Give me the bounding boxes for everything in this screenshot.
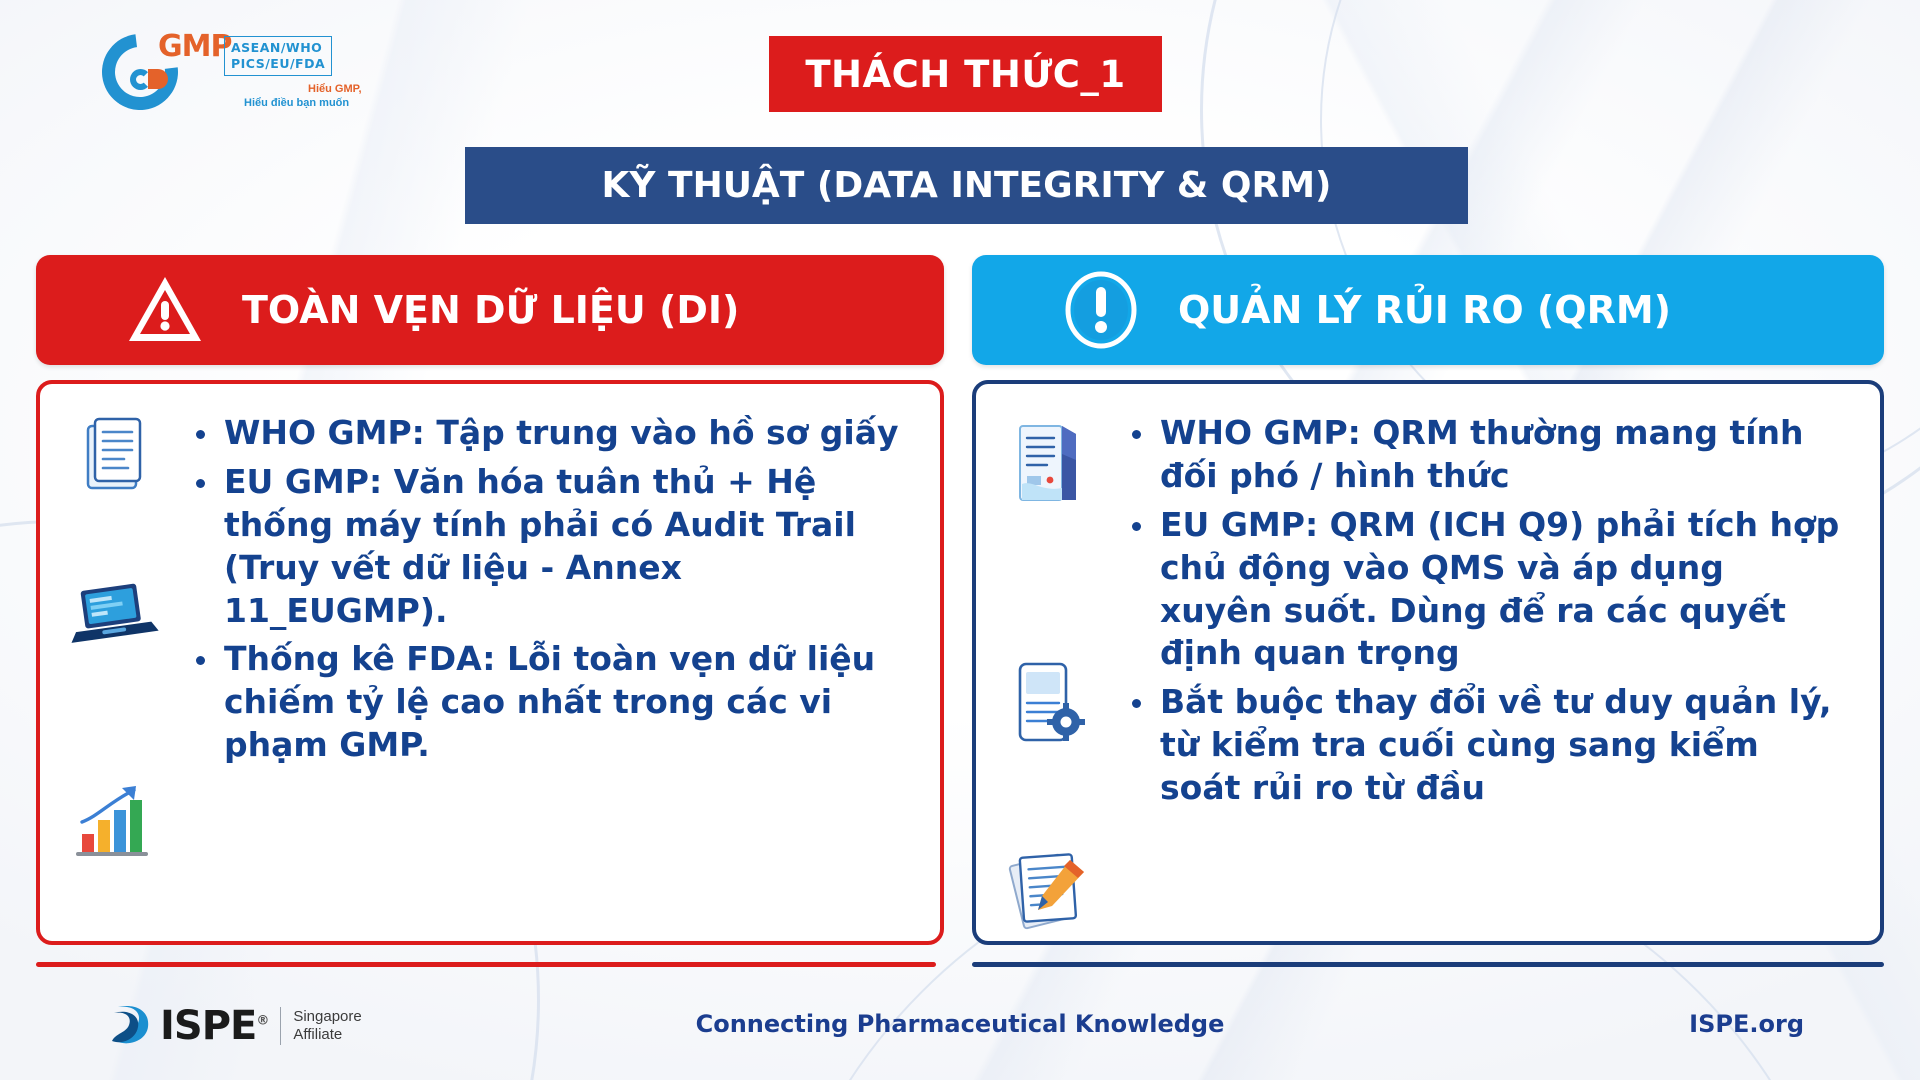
panel-left-bullet-list: WHO GMP: Tập trung vào hồ sơ giấy EU GMP…: [190, 412, 906, 767]
bar-chart-icon: [64, 774, 156, 866]
panel-left-body: WHO GMP: Tập trung vào hồ sơ giấy EU GMP…: [36, 380, 944, 945]
panel-data-integrity: TOÀN VẸN DỮ LIỆU (DI): [36, 255, 944, 945]
warning-triangle-icon: [126, 271, 204, 349]
papers-stack-icon: [1000, 844, 1092, 936]
panel-right-header: QUẢN LÝ RỦI RO (QRM): [972, 255, 1884, 365]
panel-left-header: TOÀN VẸN DỮ LIỆU (DI): [36, 255, 944, 365]
document-icon: [68, 414, 160, 506]
list-item: Bắt buộc thay đổi về tư duy quản lý, từ …: [1126, 681, 1846, 810]
list-item: WHO GMP: Tập trung vào hồ sơ giấy: [190, 412, 906, 455]
logo-tagline-2: Hiểu điều bạn muốn: [244, 97, 349, 109]
logo-standards-box: ASEAN/WHO PICS/EU/FDA: [224, 36, 332, 76]
footer-url[interactable]: ISPE.org: [1689, 1010, 1804, 1038]
logo-gmp-letters: GMP: [158, 32, 231, 62]
exclamation-circle-icon: [1062, 271, 1140, 349]
panel-right-bullet-list: WHO GMP: QRM thường mang tính đối phó / …: [1126, 412, 1846, 810]
footer-rule-left: [36, 962, 936, 967]
slide-title: THÁCH THỨC_1: [805, 53, 1125, 96]
footer-rule-right: [972, 962, 1884, 967]
list-item: Thống kê FDA: Lỗi toàn vẹn dữ liệu chiếm…: [190, 638, 906, 767]
logo-tagline-1: Hiểu GMP,: [308, 83, 362, 95]
logo-standards-line1: ASEAN/WHO: [231, 40, 325, 56]
slide-root: GMP ASEAN/WHO PICS/EU/FDA Hiểu GMP, Hiểu…: [0, 0, 1920, 1080]
footer-tagline: Connecting Pharmaceutical Knowledge: [0, 1010, 1920, 1038]
panel-right-body: WHO GMP: QRM thường mang tính đối phó / …: [972, 380, 1884, 945]
slide-title-banner: THÁCH THỨC_1: [769, 36, 1162, 112]
panel-left-title: TOÀN VẸN DỮ LIỆU (DI): [242, 288, 739, 332]
settings-document-icon: [1002, 658, 1094, 750]
server-document-icon: [1002, 418, 1094, 510]
panel-quality-risk-management: QUẢN LÝ RỦI RO (QRM): [972, 255, 1884, 945]
panel-right-title: QUẢN LÝ RỦI RO (QRM): [1178, 288, 1671, 332]
logo-cd-icon: [130, 68, 176, 90]
slide-subtitle: KỸ THUẬT (DATA INTEGRITY & QRM): [602, 165, 1332, 206]
laptop-icon: [64, 569, 156, 661]
logo-standards-line2: PICS/EU/FDA: [231, 56, 325, 72]
list-item: EU GMP: QRM (ICH Q9) phải tích hợp chủ đ…: [1126, 504, 1846, 676]
slide-subtitle-banner: KỸ THUẬT (DATA INTEGRITY & QRM): [465, 147, 1468, 224]
list-item: EU GMP: Văn hóa tuân thủ + Hệ thống máy …: [190, 461, 906, 633]
gmp-asean-logo: GMP ASEAN/WHO PICS/EU/FDA Hiểu GMP, Hiểu…: [96, 28, 366, 112]
list-item: WHO GMP: QRM thường mang tính đối phó / …: [1126, 412, 1846, 498]
